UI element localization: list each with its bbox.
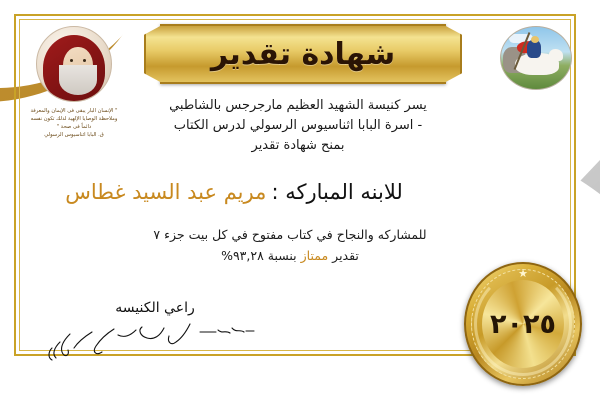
reason-line: للمشاركه والنجاح في كتاب مفتوح في كل بيت… xyxy=(110,224,470,245)
header-line-2: - اسرة البابا اثناسيوس الرسولي لدرس الكت… xyxy=(128,116,468,136)
handwritten-signature-icon xyxy=(40,318,270,362)
medal-face: ٢٠٢٥ xyxy=(482,280,564,368)
title-ribbon: شهادة تقدير xyxy=(160,24,446,84)
eye-left-shape xyxy=(70,59,73,62)
seal-year: ٢٠٢٥ xyxy=(490,309,556,340)
certificate-title: شهادة تقدير xyxy=(211,37,395,72)
grade-prefix: تقدير xyxy=(332,248,359,263)
details-block: للمشاركه والنجاح في كتاب مفتوح في كل بيت… xyxy=(110,224,470,267)
grade-suffix: بنسبة ٩٣,٢٨% xyxy=(221,248,297,263)
saint-quote-block: " الإنسان البار يبقى فى الإيمان والمعرفة… xyxy=(26,26,122,138)
certificate-canvas: شهادة تقدير " الإنسان البار يبقى فى الإي… xyxy=(0,0,600,400)
grade-value: ممتاز xyxy=(301,248,329,263)
saint-athanasius-portrait-icon xyxy=(36,26,112,102)
signature-title: راعي الكنيسه xyxy=(40,300,270,316)
recipient-line: للابنه المباركه : مريم عبد السيد غطاس xyxy=(24,180,444,204)
header-text-block: يسر كنيسة الشهيد العظيم مارجرجس بالشاطبي… xyxy=(128,96,468,156)
star-icon: ★ xyxy=(518,267,528,280)
eye-right-shape xyxy=(83,59,86,62)
beard-shape xyxy=(59,65,97,95)
horse-head-shape xyxy=(549,49,563,61)
saint-quote-attribution: ق. البابا اثناسيوس الرسولي xyxy=(26,132,122,138)
gold-seal-medal: ★ ٢٠٢٥ xyxy=(464,262,582,386)
grade-line: تقدير ممتاز بنسبة ٩٣,٢٨% xyxy=(110,245,470,266)
recipient-label: للابنه المباركه : xyxy=(271,180,402,204)
header-line-1: يسر كنيسة الشهيد العظيم مارجرجس بالشاطبي xyxy=(128,96,468,116)
header-line-3: بمنح شهادة تقدير xyxy=(128,136,468,156)
recipient-name: مريم عبد السيد غطاس xyxy=(65,180,266,204)
helmet-shape xyxy=(531,36,539,43)
saint-george-on-horse-icon xyxy=(500,26,572,90)
signature-block: راعي الكنيسه xyxy=(40,300,270,362)
saint-quote-text: " الإنسان البار يبقى فى الإيمان والمعرفة… xyxy=(26,107,122,131)
